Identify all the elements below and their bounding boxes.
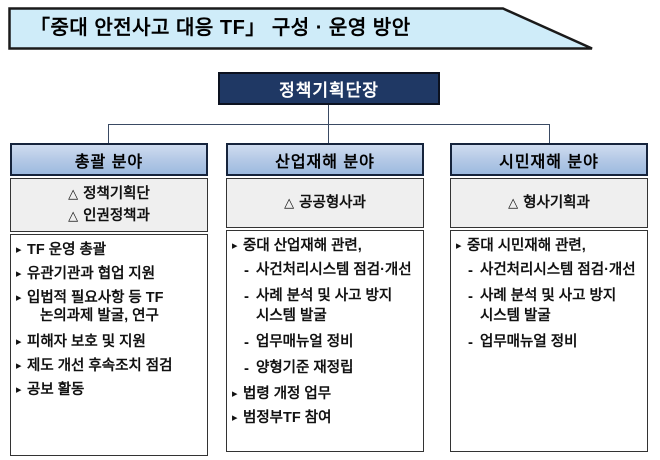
list-item: ▸ 중대 시민재해 관련, <box>456 238 643 255</box>
page-title: 「중대 안전사고 대응 TF」 구성 · 운영 방안 <box>30 7 411 50</box>
department-box-general-affairs: △정책기획단 △인권정책과 <box>10 178 208 232</box>
task-list-industrial-accidents: ▸ 중대 산업재해 관련, - 사건처리시스템 점검·개선 - 사례 분석 및 … <box>226 230 424 452</box>
department-name: 형사기획과 <box>523 195 590 211</box>
list-item-text: 시스템 발굴 <box>480 308 643 325</box>
list-item-text: 피해자 보호 및 지원 <box>27 334 203 351</box>
bullet-triangle-icon: ▸ <box>16 334 27 351</box>
list-item-text: 업무매뉴얼 정비 <box>480 334 643 351</box>
bullet-triangle-icon: ▸ <box>232 410 243 427</box>
department-box-industrial-accidents: △공공형사과 <box>226 178 424 228</box>
triangle-icon: △ <box>508 195 518 210</box>
list-item-text: 논의과제 발굴, 연구 <box>40 308 203 325</box>
bullet-dash-icon: - <box>244 262 256 279</box>
bullet-dash-icon: - <box>468 262 480 279</box>
list-item: ▸ 중대 산업재해 관련, <box>232 238 419 255</box>
list-item-text: 범정부TF 참여 <box>243 410 419 427</box>
list-item-text: 법령 개정 업무 <box>243 386 419 403</box>
column-header-label: 시민재해 분야 <box>499 148 599 172</box>
list-item: ▸ 공보 활동 <box>16 382 203 399</box>
list-item-text: 시스템 발굴 <box>256 308 419 325</box>
list-item-text: 사례 분석 및 사고 방지 <box>480 288 643 305</box>
column-general-affairs: 총괄 분야 △정책기획단 △인권정책과 ▸ TF 운영 총괄 ▸ 유관기관과 협… <box>10 143 208 456</box>
bullet-triangle-icon: ▸ <box>16 266 27 283</box>
column-industrial-accidents: 산업재해 분야 △공공형사과 ▸ 중대 산업재해 관련, - 사건처리시스템 점… <box>226 143 424 452</box>
connector-branch-3 <box>549 124 550 143</box>
root-node-policy-planning-director: 정책기획단장 <box>218 72 440 105</box>
bullet-dash-icon: - <box>468 288 480 305</box>
task-list-civil-accidents: ▸ 중대 시민재해 관련, - 사건처리시스템 점검·개선 - 사례 분석 및 … <box>450 230 648 452</box>
department-box-civil-accidents: △형사기획과 <box>450 178 648 228</box>
bullet-triangle-icon: ▸ <box>456 238 467 255</box>
list-item-continuation: 시스템 발굴 <box>232 308 419 325</box>
department-entry: △공공형사과 <box>284 192 366 214</box>
list-subitem: - 사건처리시스템 점검·개선 <box>456 262 643 279</box>
bullet-dash-icon: - <box>244 360 256 377</box>
list-item-text: 사건처리시스템 점검·개선 <box>256 262 419 279</box>
connector-root-down <box>328 105 329 124</box>
list-subitem: - 사례 분석 및 사고 방지 <box>456 288 643 305</box>
bullet-triangle-icon: ▸ <box>16 358 27 375</box>
title-banner: 「중대 안전사고 대응 TF」 구성 · 운영 방안 <box>8 7 594 50</box>
list-item-text: 유관기관과 협업 지원 <box>27 266 203 283</box>
list-subitem: - 사례 분석 및 사고 방지 <box>232 288 419 305</box>
list-item-text: 입법적 필요사항 등 TF <box>27 290 203 307</box>
list-item-text: 업무매뉴얼 정비 <box>256 334 419 351</box>
department-name: 공공형사과 <box>299 195 366 211</box>
list-subitem: - 업무매뉴얼 정비 <box>232 334 419 351</box>
column-header-industrial-accidents: 산업재해 분야 <box>226 143 424 176</box>
bullet-triangle-icon: ▸ <box>16 290 27 307</box>
list-subitem: - 양형기준 재정립 <box>232 360 419 377</box>
department-entry: △형사기획과 <box>508 192 590 214</box>
list-item: ▸ 입법적 필요사항 등 TF <box>16 290 203 307</box>
column-header-label: 산업재해 분야 <box>275 148 375 172</box>
list-item: ▸ 범정부TF 참여 <box>232 410 419 427</box>
list-item-text: 공보 활동 <box>27 382 203 399</box>
list-item-text: 사례 분석 및 사고 방지 <box>256 288 419 305</box>
column-civil-accidents: 시민재해 분야 △형사기획과 ▸ 중대 시민재해 관련, - 사건처리시스템 점… <box>450 143 648 452</box>
list-item-text: 중대 산업재해 관련, <box>243 238 419 255</box>
list-subitem: - 업무매뉴얼 정비 <box>456 334 643 351</box>
list-item: ▸ 제도 개선 후속조치 점검 <box>16 358 203 375</box>
list-item: ▸ TF 운영 총괄 <box>16 242 203 259</box>
list-item: ▸ 피해자 보호 및 지원 <box>16 334 203 351</box>
connector-branch-1 <box>108 124 109 143</box>
root-node-label: 정책기획단장 <box>279 76 379 101</box>
triangle-icon: △ <box>284 195 294 210</box>
bullet-dash-icon: - <box>244 334 256 351</box>
list-item: ▸ 법령 개정 업무 <box>232 386 419 403</box>
bullet-triangle-icon: ▸ <box>16 382 27 399</box>
list-item-text: TF 운영 총괄 <box>27 242 203 259</box>
bullet-triangle-icon: ▸ <box>232 238 243 255</box>
bullet-dash-icon: - <box>468 334 480 351</box>
list-item-text: 제도 개선 후속조치 점검 <box>27 358 203 375</box>
connector-branch-2 <box>328 124 329 143</box>
column-header-general-affairs: 총괄 분야 <box>10 143 208 176</box>
list-item-text: 중대 시민재해 관련, <box>467 238 643 255</box>
list-item: ▸ 유관기관과 협업 지원 <box>16 266 203 283</box>
column-header-civil-accidents: 시민재해 분야 <box>450 143 648 176</box>
list-item-text: 양형기준 재정립 <box>256 360 419 377</box>
bullet-dash-icon: - <box>244 288 256 305</box>
department-entry: △정책기획단 <box>68 183 150 205</box>
department-name: 정책기획단 <box>83 186 150 202</box>
triangle-icon: △ <box>68 186 78 201</box>
diagram-canvas: 「중대 안전사고 대응 TF」 구성 · 운영 방안 정책기획단장 총괄 분야 … <box>0 0 660 460</box>
list-subitem: - 사건처리시스템 점검·개선 <box>232 262 419 279</box>
column-header-label: 총괄 분야 <box>75 148 143 172</box>
task-list-general-affairs: ▸ TF 운영 총괄 ▸ 유관기관과 협업 지원 ▸ 입법적 필요사항 등 TF… <box>10 234 208 456</box>
department-name: 인권정책과 <box>83 208 150 224</box>
bullet-triangle-icon: ▸ <box>232 386 243 403</box>
list-item-continuation: 시스템 발굴 <box>456 308 643 325</box>
list-item-continuation: 논의과제 발굴, 연구 <box>16 308 203 325</box>
list-item-text: 사건처리시스템 점검·개선 <box>480 262 643 279</box>
bullet-triangle-icon: ▸ <box>16 242 27 259</box>
triangle-icon: △ <box>68 208 78 223</box>
department-entry: △인권정책과 <box>68 205 150 227</box>
